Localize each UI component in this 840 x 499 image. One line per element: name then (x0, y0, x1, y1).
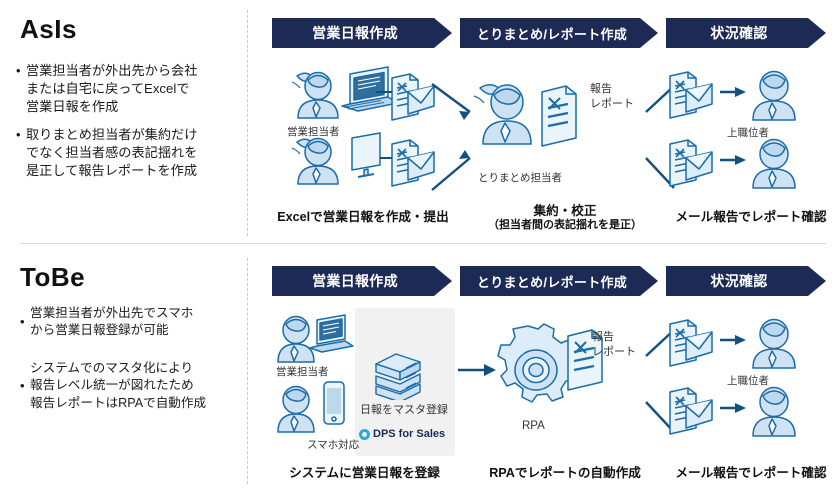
tobe-col2-doc-label: 報告 レポート (592, 330, 636, 360)
asis-step-3-banner[interactable]: 状況確認 (666, 18, 826, 48)
tobe-col1-actor-label-2: スマホ対応 (307, 437, 359, 452)
asis-bullet-list: • 営業担当者が外出先から会社 または自宅に戻ってExcelで 営業日報を作成 … (16, 62, 238, 189)
tobe-column-divider (247, 258, 248, 484)
asis-col3-caption: メール報告でレポート確認 (666, 206, 836, 225)
tobe-col2-caption: RPAでレポートの自動作成 (470, 462, 660, 481)
tobe-step-3-banner[interactable]: 状況確認 (666, 266, 826, 296)
tobe-col3-actor-label: 上職位者 (727, 373, 769, 388)
tobe-step-2-banner[interactable]: とりまとめ/レポート作成 (460, 266, 658, 296)
bullet-marker: • (16, 126, 26, 144)
asis-col2-actor-label: とりまとめ担当者 (478, 170, 562, 185)
asis-column-divider (247, 10, 248, 236)
asis-bullet-2: • 取りまとめ担当者が集約だけ でなく担当者感の表記揺れを 是正して報告レポート… (16, 126, 238, 181)
tobe-bullet-2: • システムでのマスタ化により 報告レベル統一が図れたため 報告レポートはRPA… (20, 360, 245, 412)
dps-for-sales-label: DPS for Sales (373, 428, 445, 440)
tobe-bullet-1: • 営業担当者が外出先でスマホ から営業日報登録が可能 (20, 305, 245, 340)
tobe-bullet-2-text: システムでのマスタ化により 報告レベル統一が図れたため 報告レポートはRPAで自… (30, 360, 245, 412)
database-server-icon (370, 350, 426, 400)
tobe-bullet-1-text: 営業担当者が外出先でスマホ から営業日報登録が可能 (30, 305, 245, 340)
asis-col2-doc-label: 報告 レポート (590, 82, 634, 112)
slide-root: AsIs • 営業担当者が外出先から会社 または自宅に戻ってExcelで 営業日… (0, 0, 840, 499)
bullet-marker: • (20, 377, 30, 395)
asis-title: AsIs (20, 14, 77, 45)
asis-col2-subcaption: （担当者間の表記揺れを是正） (470, 216, 660, 232)
tobe-col1-caption: システムに営業日報を登録 (272, 462, 457, 481)
tobe-col1-system-label: 日報をマスタ登録 (360, 401, 448, 417)
section-divider-horizontal (20, 243, 826, 244)
asis-step-1-banner[interactable]: 営業日報作成 (272, 18, 452, 48)
tobe-step-1-banner[interactable]: 営業日報作成 (272, 266, 452, 296)
bullet-marker: • (16, 62, 26, 80)
dps-logo-icon (359, 429, 370, 440)
asis-bullet-2-text: 取りまとめ担当者が集約だけ でなく担当者感の表記揺れを 是正して報告レポートを作… (26, 126, 238, 181)
bullet-marker: • (20, 313, 30, 331)
tobe-col1-actor-label-1: 営業担当者 (276, 364, 329, 379)
asis-col3-actor-label: 上職位者 (727, 125, 769, 140)
tobe-title: ToBe (20, 262, 85, 293)
asis-bullet-1: • 営業担当者が外出先から会社 または自宅に戻ってExcelで 営業日報を作成 (16, 62, 238, 117)
asis-step-2-banner[interactable]: とりまとめ/レポート作成 (460, 18, 658, 48)
tobe-col3-caption: メール報告でレポート確認 (666, 462, 836, 481)
asis-col1-actor-label: 営業担当者 (287, 124, 340, 139)
tobe-bullet-list: • 営業担当者が外出先でスマホ から営業日報登録が可能 • システムでのマスタ化… (20, 305, 245, 432)
asis-bullet-1-text: 営業担当者が外出先から会社 または自宅に戻ってExcelで 営業日報を作成 (26, 62, 238, 117)
tobe-col2-actor-label: RPA (522, 420, 545, 432)
asis-col1-caption: Excelで営業日報を作成・提出 (272, 206, 454, 225)
dps-for-sales-badge[interactable]: DPS for Sales (359, 428, 445, 440)
asis-col2-illustration (466, 70, 606, 182)
